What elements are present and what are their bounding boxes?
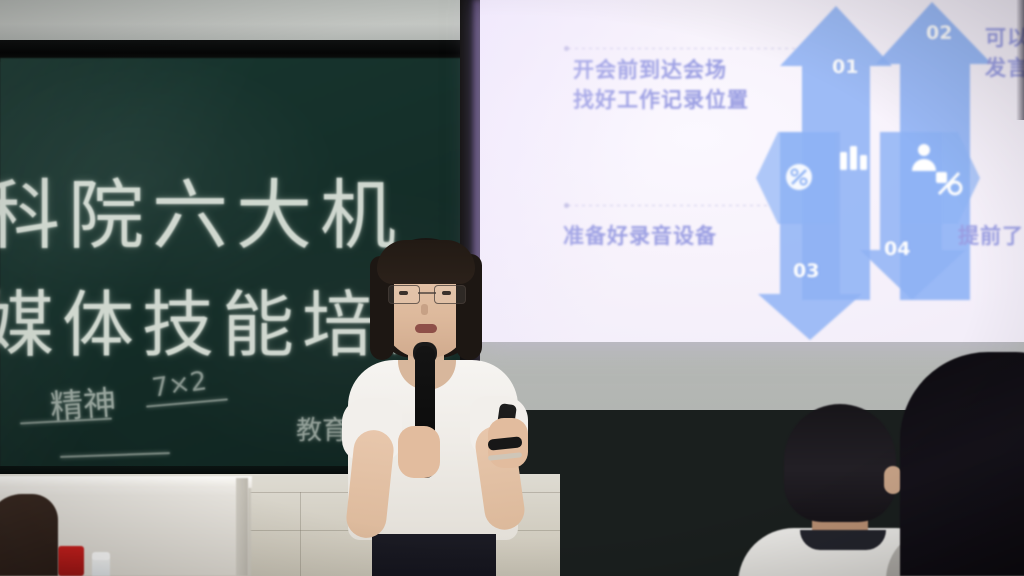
presenter	[320, 238, 550, 576]
podium-right-edge	[236, 478, 248, 576]
audience-head	[784, 404, 896, 522]
slide-text-top-left-line1: 开会前到达会场	[573, 54, 727, 84]
globe-percent-icon	[782, 160, 816, 194]
chalk-underline	[60, 452, 170, 458]
audience-long-hair	[900, 352, 1024, 576]
presenter-hand-left	[398, 426, 440, 478]
upper-wall	[0, 0, 480, 44]
slide-text-bottom-right: 提前了	[958, 220, 1024, 250]
projected-slide: 01 02 03 04	[480, 0, 1024, 342]
arrow-number-02: 02	[926, 22, 952, 44]
water-bottle-cap	[92, 552, 110, 560]
arrow-number-04: 04	[884, 238, 910, 260]
arrow-number-03: 03	[793, 260, 819, 282]
tile-line	[300, 492, 301, 576]
glasses-lens-left	[388, 285, 420, 304]
audience-collar	[800, 530, 886, 550]
right-edge-shadow	[1016, 0, 1024, 120]
glasses-bridge	[418, 292, 436, 294]
audience-hair	[0, 494, 58, 576]
presenter-nose	[421, 304, 428, 315]
chalkboard-note-number: 7×2	[150, 366, 209, 403]
classroom-scene: 科院六大机 媒体技能培训 精神 7×2 教育科 2021年	[0, 0, 1024, 576]
bar-chart-icon	[836, 140, 872, 174]
percent-icon	[932, 166, 966, 200]
podium-top-surface	[0, 476, 252, 488]
audience-member-left	[0, 494, 86, 576]
audience-member-right	[900, 352, 1024, 576]
presenter-bangs	[377, 240, 475, 284]
glasses-icon	[388, 285, 466, 302]
presenter-skirt	[372, 534, 496, 576]
slide-text-bottom-left: 准备好录音设备	[563, 220, 717, 250]
glasses-lens-right	[434, 285, 466, 304]
slide-text-top-left-line2: 找好工作记录位置	[573, 84, 749, 114]
arrow-number-01: 01	[832, 56, 858, 78]
presenter-mouth	[415, 324, 437, 333]
